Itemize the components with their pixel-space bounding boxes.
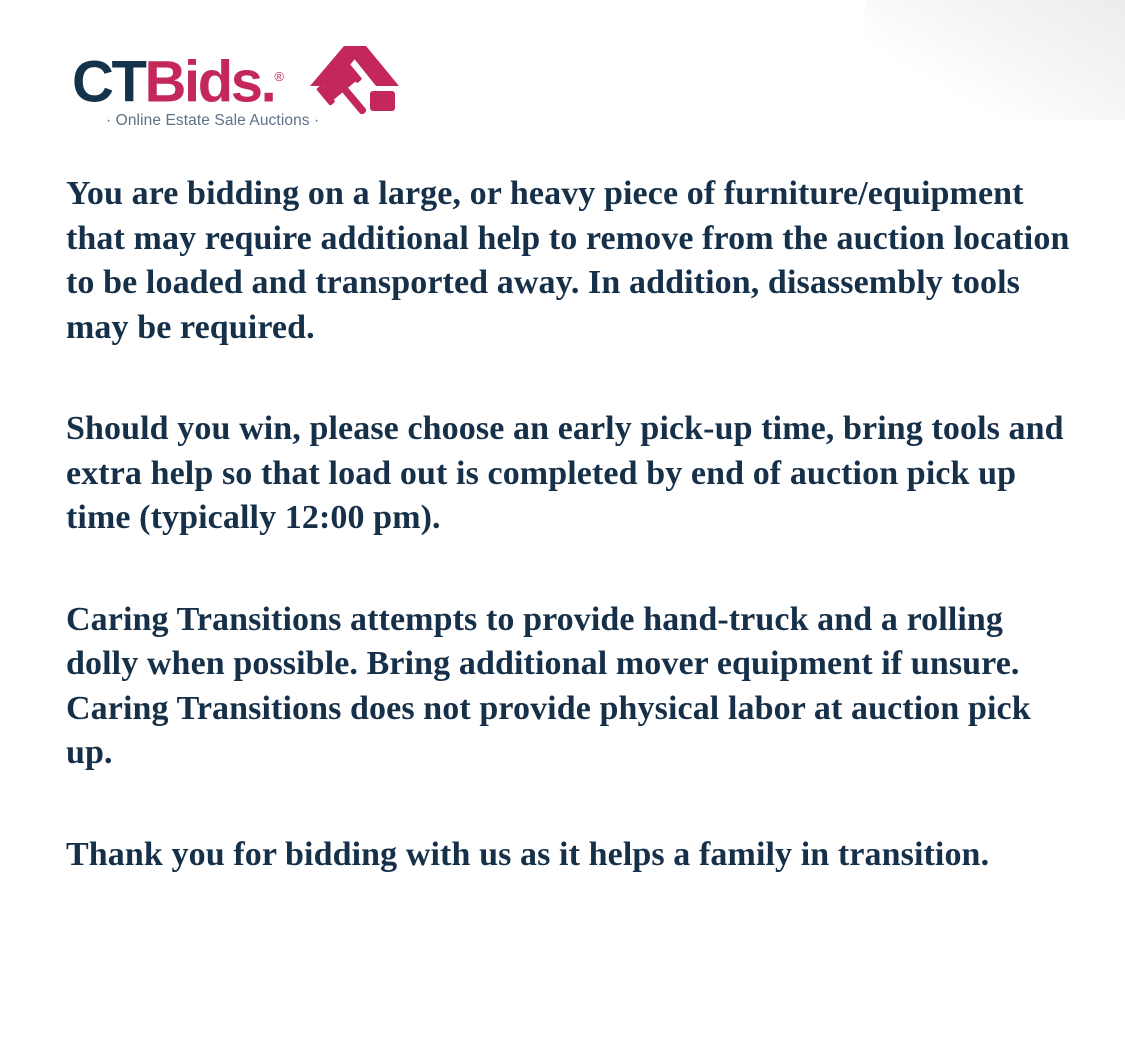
- house-roof-gavel-icon: [304, 42, 402, 114]
- corner-shading: [865, 0, 1125, 120]
- registered-trademark-icon: ®: [274, 69, 284, 84]
- notice-body: You are bidding on a large, or heavy pie…: [66, 172, 1076, 877]
- paragraph-equipment-policy: Caring Transitions attempts to provide h…: [66, 598, 1076, 776]
- logo-wordmark-text: CTBids.®: [72, 48, 284, 111]
- logo-text-period: .: [261, 49, 275, 114]
- paragraph-thank-you: Thank you for bidding with us as it help…: [66, 833, 1076, 878]
- logo-text-bids: Bids: [145, 49, 261, 114]
- notice-page: CTBids.® · Online Es: [0, 0, 1125, 1064]
- ctbids-logo[interactable]: CTBids.® · Online Es: [72, 48, 417, 148]
- logo-text-ct: CT: [72, 49, 145, 114]
- paragraph-pickup-guidance: Should you win, please choose an early p…: [66, 407, 1076, 541]
- logo-tagline: · Online Estate Sale Auctions ·: [106, 112, 319, 130]
- paragraph-bidding-notice: You are bidding on a large, or heavy pie…: [66, 172, 1076, 350]
